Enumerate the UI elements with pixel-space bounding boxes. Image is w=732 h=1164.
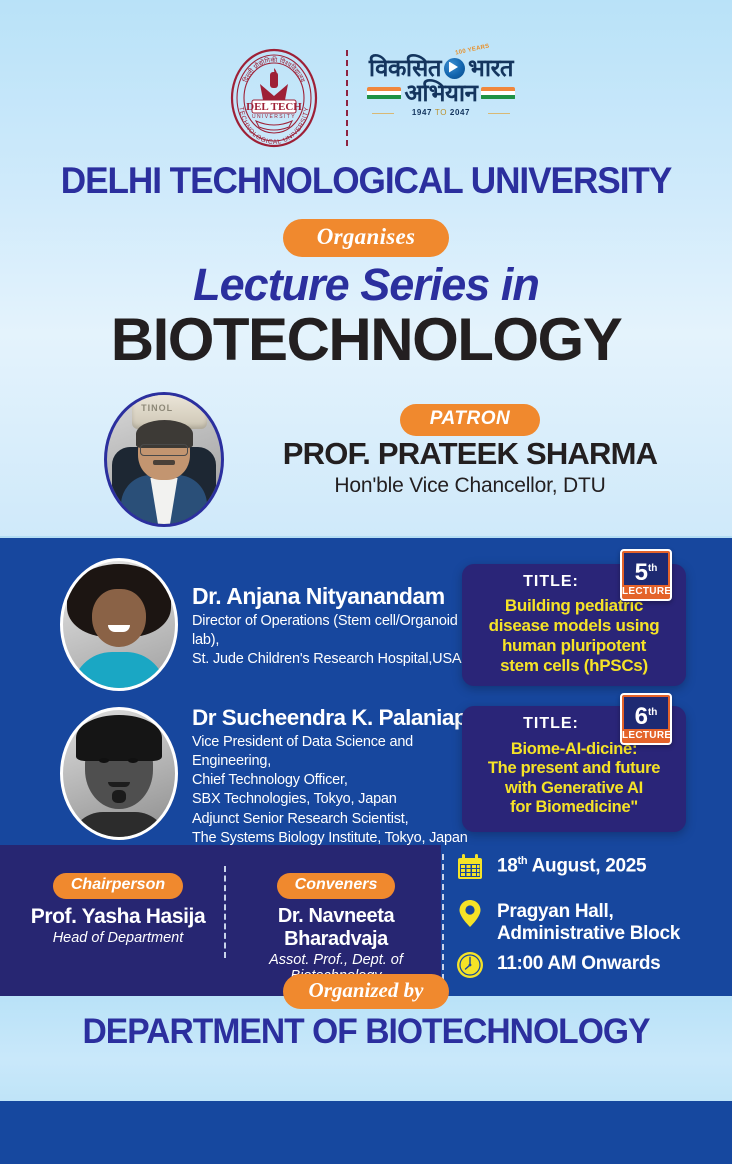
speaker-2-title-label: TITLE: bbox=[462, 715, 640, 733]
lecture-series-heading: Lecture Series in bbox=[0, 259, 732, 311]
conveners-pill: Conveners bbox=[277, 873, 396, 899]
event-venue-row: Pragyan Hall, Administrative Block bbox=[455, 898, 680, 945]
lecture-6-word: LECTURE bbox=[622, 730, 670, 741]
vb-year-to: TO bbox=[435, 108, 447, 117]
logo-divider-dashed bbox=[346, 50, 348, 146]
vb-years-text: 1947 TO 2047 bbox=[366, 108, 516, 117]
patron-name: PROF. PRATEEK SHARMA bbox=[260, 436, 680, 472]
vb-line1-text: विकसित bbox=[369, 56, 441, 80]
speaker-2-photo bbox=[60, 707, 178, 840]
lecture-5-number-value: 5 bbox=[635, 559, 648, 586]
lecture-5-number: 5th bbox=[624, 553, 668, 585]
svg-text:DEL TECH: DEL TECH bbox=[246, 101, 302, 113]
event-date-ordinal: th bbox=[518, 855, 528, 867]
organized-by-pill-wrap: Organized by bbox=[0, 974, 732, 1009]
speaker-2-title-text: Biome-AI-dicine: The present and future … bbox=[468, 740, 680, 818]
biotechnology-heading: BIOTECHNOLOGY bbox=[0, 305, 732, 374]
organisers-divider bbox=[224, 866, 226, 958]
organises-pill: Organises bbox=[283, 219, 450, 257]
svg-text:UNIVERSITY: UNIVERSITY bbox=[252, 114, 296, 120]
lecture-6-number: 6th bbox=[624, 697, 668, 729]
patron-role: Hon'ble Vice Chancellor, DTU bbox=[260, 474, 680, 498]
chairperson-pill: Chairperson bbox=[53, 873, 183, 899]
chairperson-block: Chairperson Prof. Yasha Hasija Head of D… bbox=[12, 873, 224, 946]
event-date-text: 18th August, 2025 bbox=[497, 852, 646, 877]
dtu-crest-logo: DEL TECH UNIVERSITY दिल्ली प्रौद्योगिकी … bbox=[222, 48, 326, 148]
viksit-bharat-abhiyan-logo: विकसित 100 YEARS भारत अभियान 1947 TO 204… bbox=[366, 56, 516, 142]
speaker-1-title-label: TITLE: bbox=[462, 573, 640, 591]
logo-row: DEL TECH UNIVERSITY दिल्ली प्रौद्योगिकी … bbox=[0, 48, 732, 148]
speaker-1-affiliation: Director of Operations (Stem cell/Organo… bbox=[192, 612, 472, 669]
organized-by-pill: Organized by bbox=[283, 974, 450, 1009]
speaker-1-name: Dr. Anjana Nityanandam bbox=[192, 583, 445, 610]
event-time-text: 11:00 AM Onwards bbox=[497, 950, 660, 975]
conveners-block: Conveners Dr. Navneeta Bharadvaja Assot.… bbox=[232, 873, 440, 984]
lecture-5-word: LECTURE bbox=[622, 586, 670, 597]
event-date-row: 18th August, 2025 bbox=[455, 852, 646, 882]
vb-globe-icon bbox=[444, 58, 465, 79]
chairperson-name: Prof. Yasha Hasija bbox=[12, 905, 224, 929]
lecture-6-ordinal: th bbox=[648, 707, 657, 718]
vb-year-start: 1947 bbox=[412, 108, 432, 117]
speaker-1-title-text: Building pediatric disease models using … bbox=[468, 596, 680, 676]
tricolour-right-icon bbox=[481, 87, 515, 100]
event-date-rest: August, 2025 bbox=[527, 855, 646, 876]
vb-year-end: 2047 bbox=[450, 108, 470, 117]
vb-line2-text: अभियान bbox=[405, 81, 478, 105]
lecture-6-badge: 6th LECTURE bbox=[620, 693, 672, 745]
chairperson-role: Head of Department bbox=[12, 930, 224, 946]
patron-pill-wrap: PATRON bbox=[260, 404, 680, 436]
event-venue-text: Pragyan Hall, Administrative Block bbox=[497, 898, 680, 945]
details-divider bbox=[442, 854, 444, 990]
conveners-name: Dr. Navneeta Bharadvaja bbox=[232, 905, 440, 951]
page-title-university: DELHI TECHNOLOGICAL UNIVERSITY bbox=[18, 160, 713, 202]
patron-pill: PATRON bbox=[400, 404, 540, 436]
lecture-5-badge: 5th LECTURE bbox=[620, 549, 672, 601]
location-pin-icon bbox=[455, 898, 485, 928]
event-date-day: 18 bbox=[497, 855, 518, 876]
divider-hairline-top bbox=[0, 536, 732, 538]
background-band-bottom-bar bbox=[0, 1101, 732, 1164]
tricolour-left-icon bbox=[367, 87, 401, 100]
vb-line1b-text: भारत bbox=[468, 56, 513, 80]
calendar-icon bbox=[455, 852, 485, 882]
organises-pill-wrap: Organises bbox=[0, 219, 732, 257]
poster-root: DEL TECH UNIVERSITY दिल्ली प्रौद्योगिकी … bbox=[0, 0, 732, 1164]
department-name: DEPARTMENT OF BIOTECHNOLOGY bbox=[15, 1012, 718, 1052]
speaker-2-name: Dr Sucheendra K. Palaniappan bbox=[192, 705, 506, 731]
lecture-6-number-value: 6 bbox=[635, 703, 648, 730]
patron-photo bbox=[104, 392, 224, 527]
speaker-1-photo bbox=[60, 558, 178, 691]
speaker-2-affiliation: Vice President of Data Science and Engin… bbox=[192, 733, 474, 848]
lecture-5-ordinal: th bbox=[648, 563, 657, 574]
